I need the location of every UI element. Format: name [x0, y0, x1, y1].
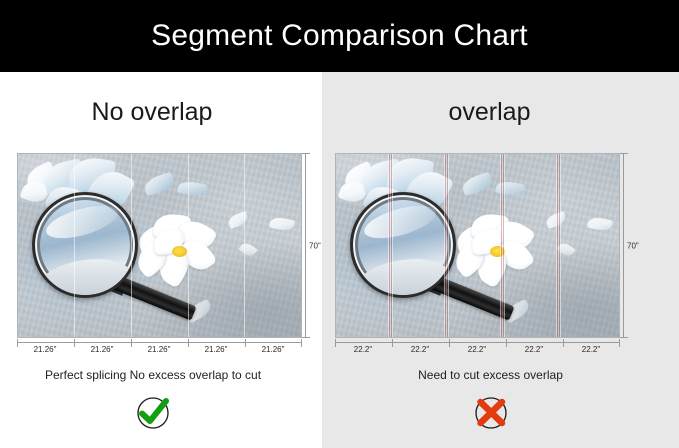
magnifier-lens-icon [32, 192, 138, 298]
mural-image-overlap [335, 153, 620, 338]
caption-overlap: Need to cut excess overlap [322, 368, 679, 382]
petal-icon [269, 216, 295, 233]
page-title: Segment Comparison Chart [151, 19, 528, 53]
panel-heading-no-overlap: No overlap [0, 98, 322, 127]
petal-icon [227, 211, 250, 229]
height-label: 70" [309, 241, 321, 250]
petal-icon [177, 180, 207, 198]
panel-heading-overlap: overlap [322, 98, 679, 127]
segment-width-label: 22.2" [411, 345, 429, 354]
petal-icon [495, 180, 525, 198]
petal-icon [587, 216, 613, 233]
segment-width-label: 22.2" [525, 345, 543, 354]
segment-width-label: 21.26" [34, 345, 57, 354]
title-banner: Segment Comparison Chart [0, 0, 679, 72]
magnifier-lens-icon [350, 192, 456, 298]
width-dimension-no-overlap: 21.26" 21.26" 21.26" 21.26" 21.26" [17, 342, 302, 360]
segment-width-label: 21.26" [148, 345, 171, 354]
check-circle-icon [136, 396, 170, 430]
height-dimension-overlap: 70" [621, 153, 641, 338]
segment-width-label: 21.26" [205, 345, 228, 354]
verdict-overlap [322, 396, 679, 430]
comparison-panels: No overlap [0, 72, 679, 448]
segment-width-label: 22.2" [582, 345, 600, 354]
petal-icon [142, 172, 175, 196]
panel-overlap: overlap [322, 72, 679, 448]
flower-icon [136, 212, 216, 288]
panel-no-overlap: No overlap [0, 72, 322, 448]
segment-width-label: 21.26" [91, 345, 114, 354]
height-dimension-no-overlap: 70" [303, 153, 323, 338]
petal-icon [460, 172, 493, 196]
petal-icon [545, 211, 568, 229]
height-label: 70" [627, 241, 639, 250]
segment-width-label: 22.2" [468, 345, 486, 354]
petal-icon [556, 240, 575, 258]
flower-icon [454, 212, 534, 288]
verdict-no-overlap [0, 396, 322, 430]
caption-no-overlap: Perfect splicing No excess overlap to cu… [0, 368, 322, 382]
mural-wrap-no-overlap [17, 153, 302, 338]
mural-image-no-overlap [17, 153, 302, 338]
cross-circle-icon [474, 396, 508, 430]
width-dimension-overlap: 22.2" 22.2" 22.2" 22.2" 22.2" [335, 342, 620, 360]
segment-width-label: 21.26" [262, 345, 285, 354]
segment-width-label: 22.2" [354, 345, 372, 354]
mural-wrap-overlap [335, 153, 620, 338]
petal-icon [238, 240, 257, 258]
